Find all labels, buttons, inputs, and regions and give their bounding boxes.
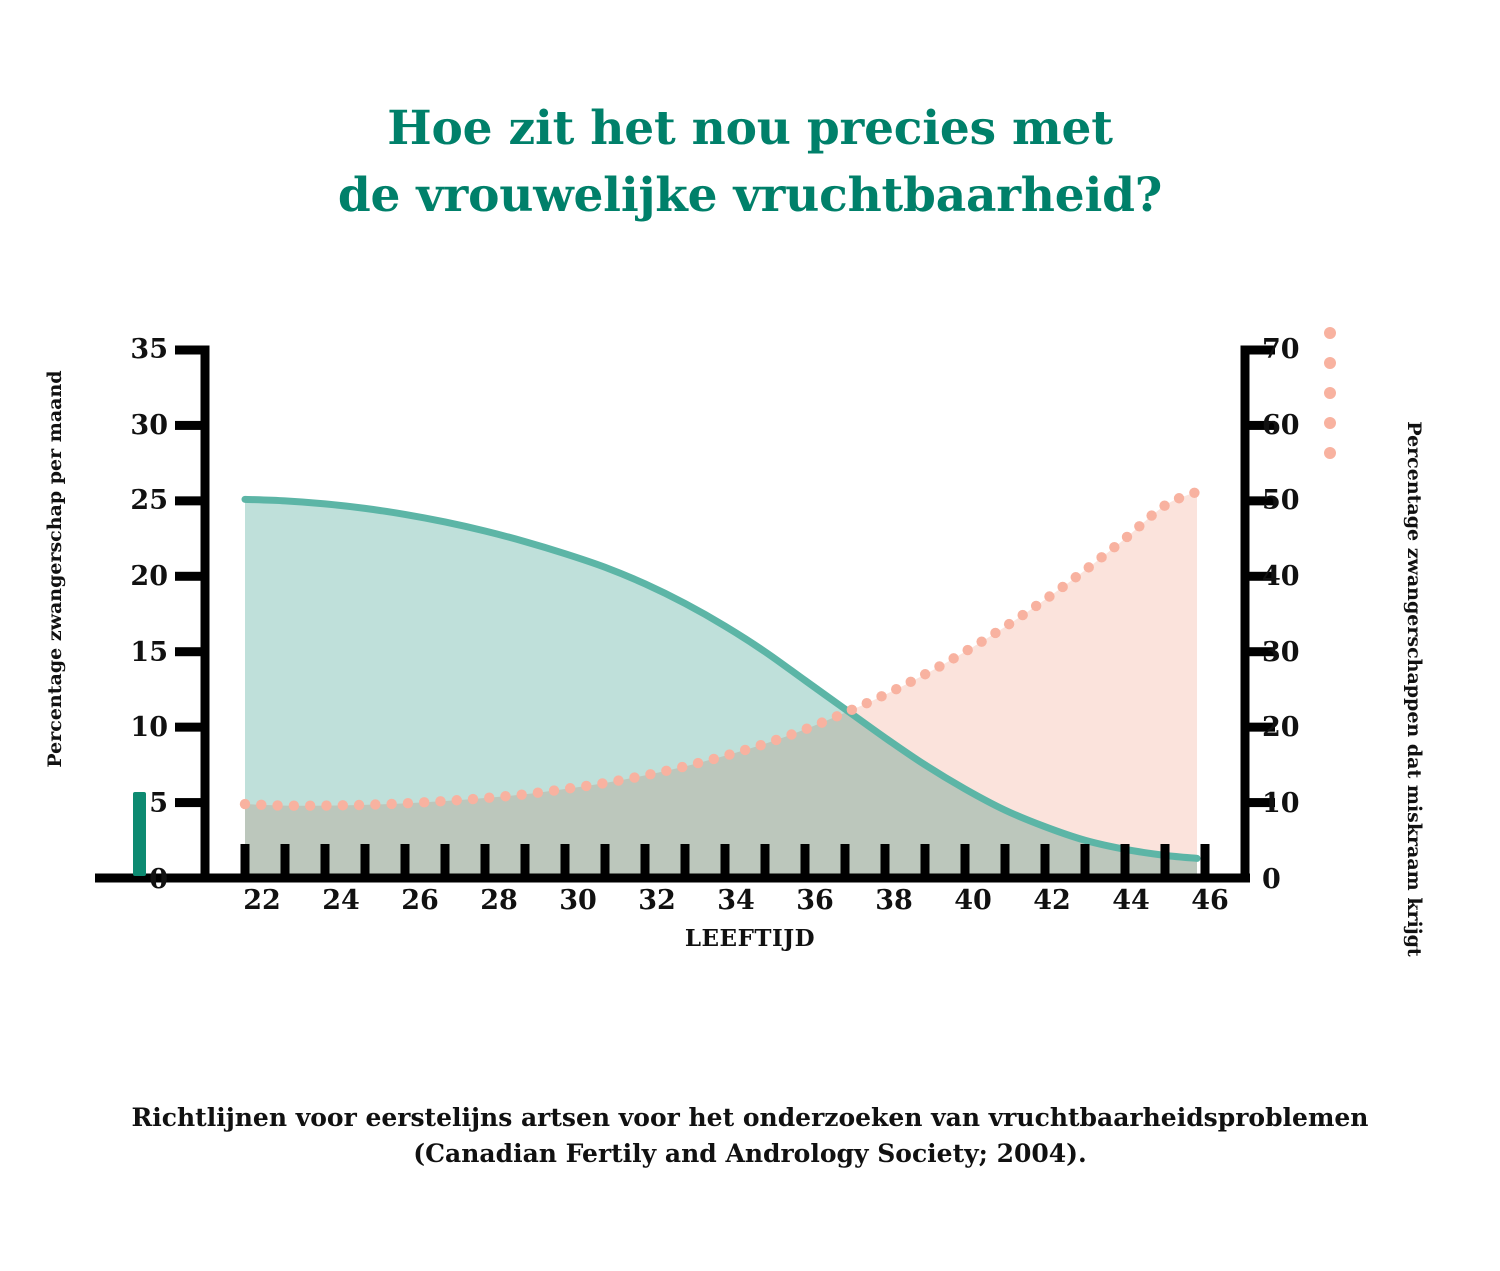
- x-tick-26: 26: [390, 885, 450, 916]
- infographic-page: Hoe zit het nou precies met de vrouwelij…: [0, 0, 1500, 1271]
- y-right-tick-10: 10: [1262, 788, 1322, 819]
- y-right-tick-50: 50: [1262, 485, 1322, 516]
- y-right-tick-30: 30: [1262, 637, 1322, 668]
- y-left-tick-25: 25: [108, 485, 168, 516]
- fertility-chart: 35 30 25 20 15 10 5 0 70 60 50 40 30 20 …: [0, 320, 1500, 1020]
- y-left-tick-20: 20: [108, 561, 168, 592]
- y-right-tick-20: 20: [1262, 712, 1322, 743]
- x-tick-36: 36: [785, 885, 845, 916]
- y-right-tick-70: 70: [1262, 334, 1322, 365]
- y-left-tick-5: 5: [108, 788, 168, 819]
- page-title: Hoe zit het nou precies met de vrouwelij…: [0, 96, 1500, 229]
- title-line-2: de vrouwelijke vruchtbaarheid?: [0, 163, 1500, 230]
- y-left-tick-10: 10: [108, 712, 168, 743]
- caption-line-1: Richtlijnen voor eerstelijns artsen voor…: [0, 1100, 1500, 1136]
- x-tick-44: 44: [1101, 885, 1161, 916]
- x-tick-24: 24: [311, 885, 371, 916]
- y-right-tick-40: 40: [1262, 561, 1322, 592]
- x-tick-46: 46: [1180, 885, 1240, 916]
- x-tick-22: 22: [232, 885, 292, 916]
- x-tick-30: 30: [548, 885, 608, 916]
- y-right-tick-0: 0: [1262, 864, 1322, 895]
- x-tick-42: 42: [1022, 885, 1082, 916]
- y-right-tick-60: 60: [1262, 410, 1322, 441]
- y-right-axis-title: Percentage zwangerschappen dat miskraam …: [1403, 379, 1425, 999]
- y-left-tick-30: 30: [108, 410, 168, 441]
- x-axis-title: LEEFTIJD: [0, 925, 1500, 952]
- x-tick-32: 32: [627, 885, 687, 916]
- title-line-1: Hoe zit het nou precies met: [0, 96, 1500, 163]
- y-left-tick-0: 0: [108, 864, 168, 895]
- y-left-tick-35: 35: [108, 334, 168, 365]
- x-tick-40: 40: [943, 885, 1003, 916]
- y-left-axis-title: Percentage zwangerschap per maand: [44, 339, 66, 799]
- x-tick-34: 34: [706, 885, 766, 916]
- y-left-tick-15: 15: [108, 637, 168, 668]
- x-tick-28: 28: [469, 885, 529, 916]
- x-tick-38: 38: [864, 885, 924, 916]
- source-caption: Richtlijnen voor eerstelijns artsen voor…: [0, 1100, 1500, 1171]
- caption-line-2: (Canadian Fertily and Andrology Society;…: [0, 1136, 1500, 1172]
